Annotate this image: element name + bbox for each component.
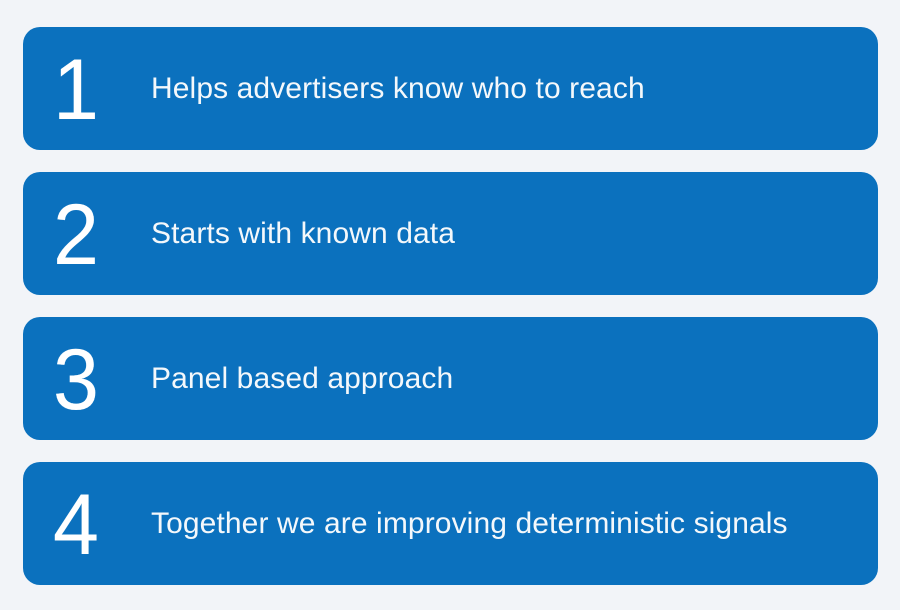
list-item[interactable]: 1 Helps advertisers know who to reach — [23, 27, 878, 150]
list-item[interactable]: 2 Starts with known data — [23, 172, 878, 295]
item-label: Starts with known data — [151, 217, 455, 251]
item-number: 3 — [53, 337, 135, 423]
item-number: 1 — [53, 47, 135, 133]
slide-canvas: 1 Helps advertisers know who to reach 2 … — [0, 0, 900, 610]
item-label: Panel based approach — [151, 362, 453, 396]
item-number: 4 — [53, 482, 135, 568]
list-item[interactable]: 4 Together we are improving deterministi… — [23, 462, 878, 585]
item-number: 2 — [53, 192, 135, 278]
item-label: Helps advertisers know who to reach — [151, 72, 645, 106]
item-label: Together we are improving deterministic … — [151, 507, 788, 541]
list-item[interactable]: 3 Panel based approach — [23, 317, 878, 440]
